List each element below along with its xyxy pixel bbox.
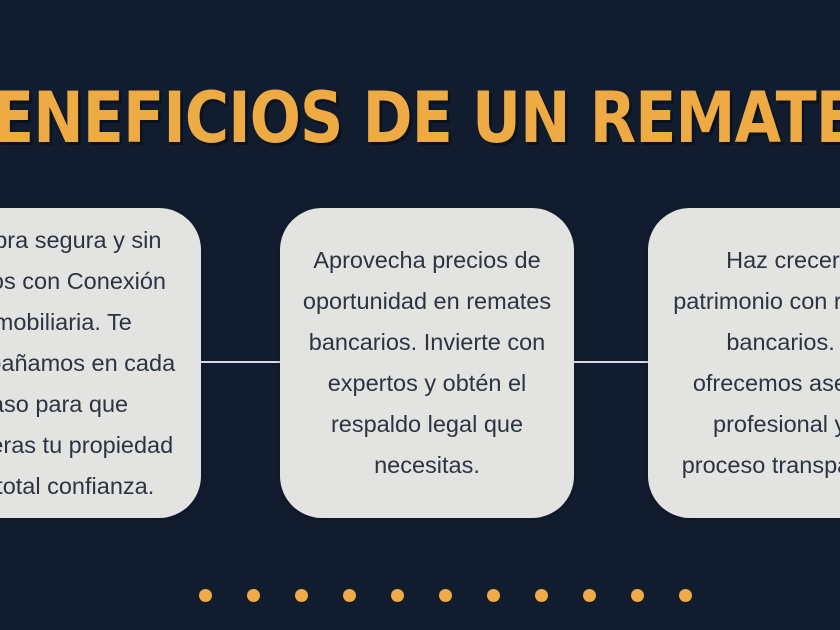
decoration-dot [439,589,452,602]
decoration-dot [343,589,356,602]
infographic-slide: BENEFICIOS DE UN REMATE BANCARIO Compra … [0,0,840,630]
benefit-card-center: Aprovecha precios de oportunidad en rema… [280,208,574,518]
decoration-dot [487,589,500,602]
decoration-dot [199,589,212,602]
decoration-dot [295,589,308,602]
decoration-dot [391,589,404,602]
card-connector-left [199,361,281,363]
benefit-card-left-text: Compra segura y sin riesgos con Conexión… [0,220,179,507]
title-band: BENEFICIOS DE UN REMATE BANCARIO [0,72,840,164]
benefit-card-left: Compra segura y sin riesgos con Conexión… [0,208,201,518]
benefit-card-right: Haz crecer tu patrimonio con remates ban… [648,208,840,518]
card-connector-right [572,361,649,363]
benefit-card-right-text: Haz crecer tu patrimonio con remates ban… [670,240,840,486]
decoration-dot [631,589,644,602]
decoration-dot [247,589,260,602]
page-title: BENEFICIOS DE UN REMATE BANCARIO [0,72,840,164]
decoration-dot [535,589,548,602]
decoration-dot [679,589,692,602]
dot-decoration-row [199,589,692,602]
benefit-card-center-text: Aprovecha precios de oportunidad en rema… [300,240,554,486]
decoration-dot [583,589,596,602]
